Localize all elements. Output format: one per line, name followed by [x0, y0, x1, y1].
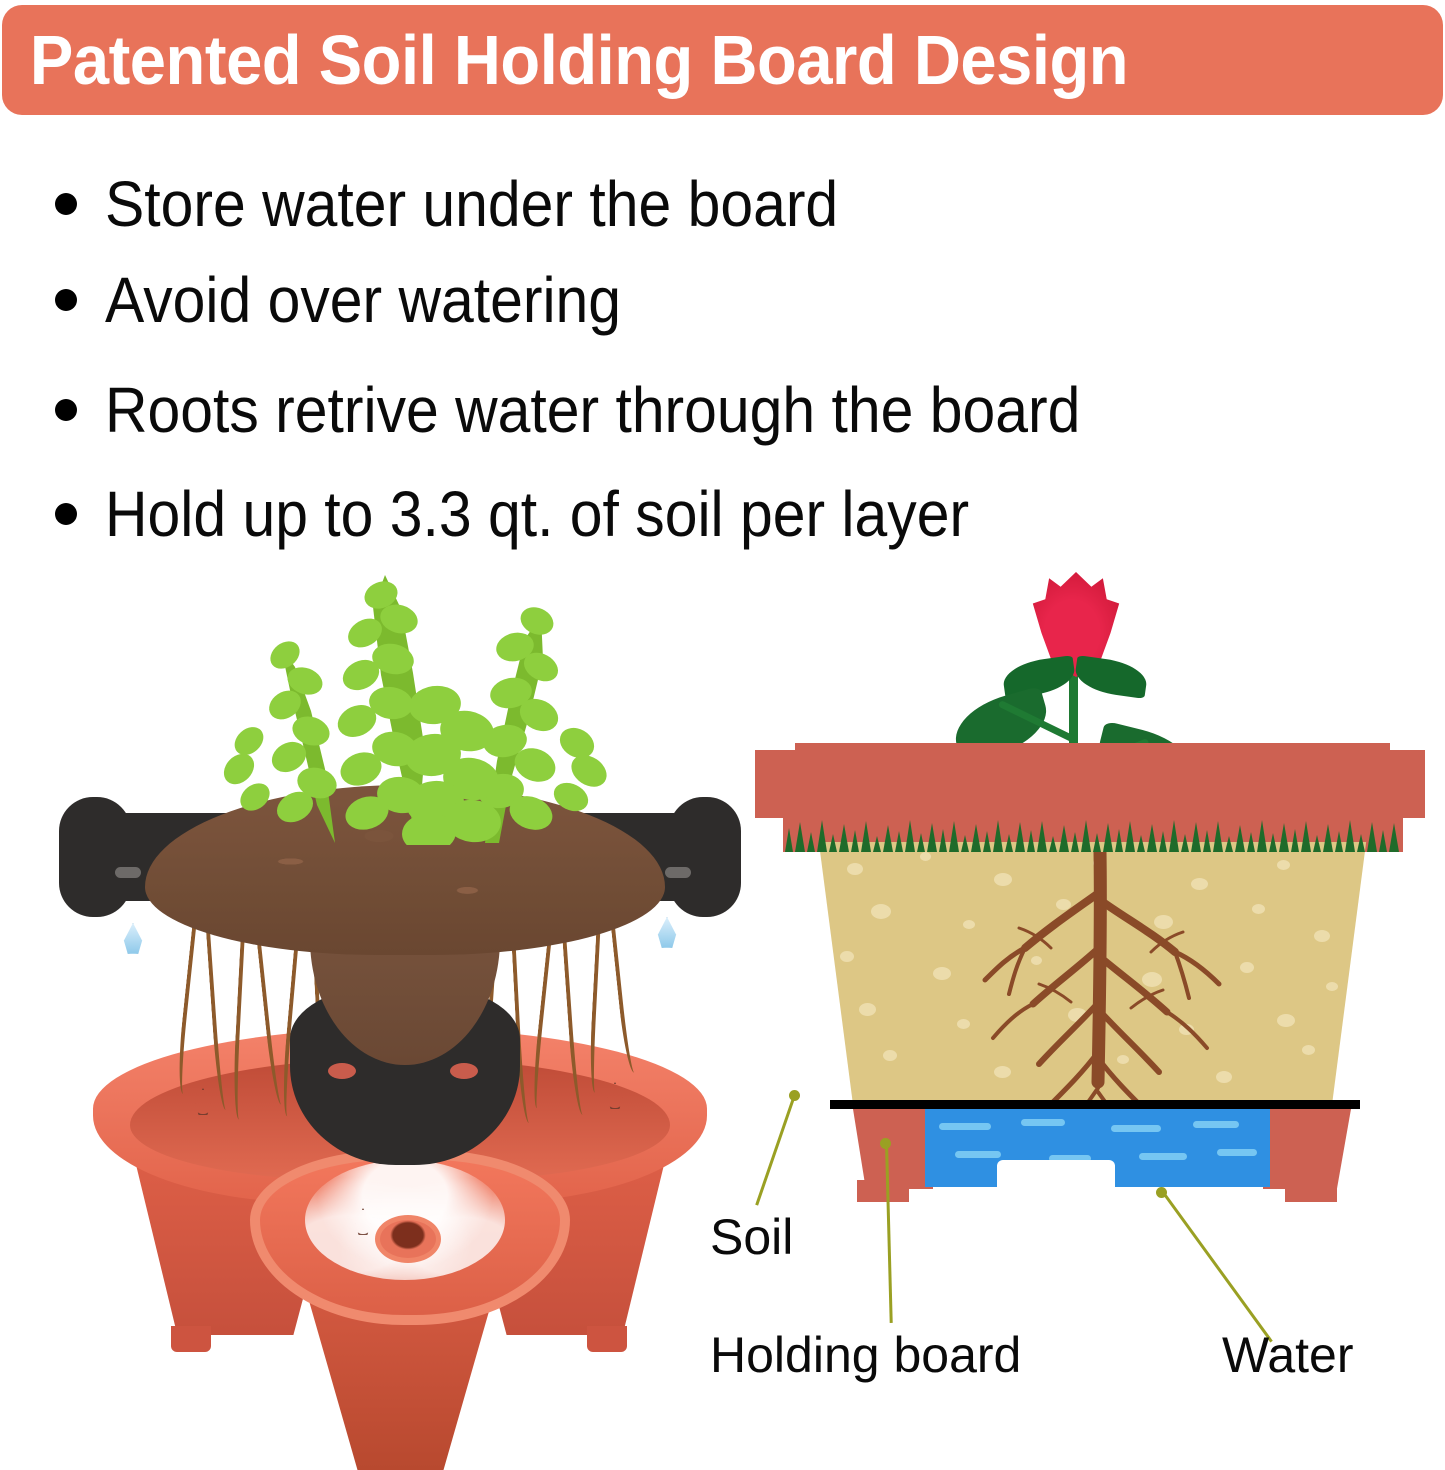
planter-foot — [171, 1326, 211, 1352]
product-photo — [55, 555, 745, 1355]
pot-foot — [1285, 1180, 1337, 1202]
board-hole — [665, 867, 691, 878]
water-wave — [1139, 1153, 1187, 1160]
holding-board-label: Holding board — [710, 1330, 1021, 1380]
water-wave — [1021, 1119, 1065, 1126]
water-wave — [1111, 1125, 1161, 1132]
board-hole — [328, 1063, 356, 1079]
holding-board-divider — [830, 1100, 1360, 1109]
pot-foot — [857, 1180, 909, 1202]
feature-item: Store water under the board — [55, 172, 902, 236]
soil-label: Soil — [710, 1212, 793, 1262]
rose-sepal — [1073, 655, 1149, 699]
water-wave — [1217, 1149, 1257, 1156]
feature-label: Avoid over watering — [105, 268, 621, 332]
cross-section-diagram — [745, 560, 1445, 1260]
board-hole — [450, 1063, 478, 1079]
water-label: Water — [1222, 1330, 1354, 1380]
feature-item: Roots retrive water through the board — [55, 378, 1165, 442]
header-banner: Patented Soil Holding Board Design — [2, 5, 1443, 115]
planter-foot — [587, 1326, 627, 1352]
plant-foliage — [185, 555, 655, 845]
planter-drain-hole — [375, 1215, 441, 1263]
board-hole — [115, 867, 141, 878]
feature-label: Hold up to 3.3 qt. of soil per layer — [105, 482, 969, 546]
feature-label: Store water under the board — [105, 172, 838, 236]
water-droplet-icon — [121, 923, 145, 955]
grass-layer — [785, 818, 1400, 852]
feature-label: Roots retrive water through the board — [105, 378, 1080, 442]
page-title: Patented Soil Holding Board Design — [2, 25, 1128, 95]
water-wave — [955, 1151, 1001, 1158]
feature-item: Hold up to 3.3 qt. of soil per layer — [55, 482, 1044, 546]
water-wave — [1193, 1121, 1239, 1128]
bullet-icon — [55, 289, 77, 311]
bullet-icon — [55, 399, 77, 421]
pot-rim — [755, 750, 1425, 818]
feature-item: Avoid over watering — [55, 268, 666, 332]
bullet-icon — [55, 193, 77, 215]
pot-wall-left — [853, 1109, 933, 1189]
bullet-icon — [55, 503, 77, 525]
pot-base-notch — [997, 1160, 1115, 1200]
water-wave — [939, 1123, 991, 1130]
pot-wall-right — [1263, 1109, 1351, 1189]
